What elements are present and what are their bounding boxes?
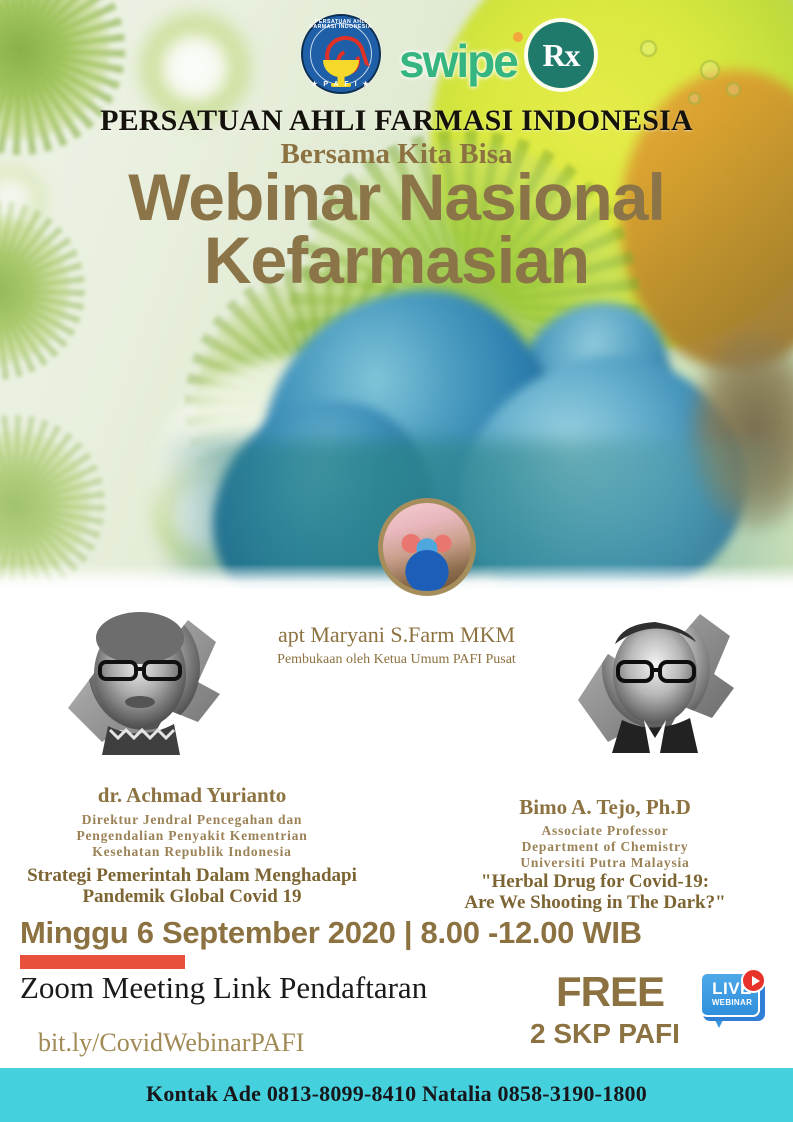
right-affiliation-line: Department of Chemistry: [425, 839, 785, 855]
left-topic-line: Pandemik Global Covid 19: [0, 887, 392, 908]
right-speaker-brush-mask: [560, 588, 750, 753]
title-line-2: Kefarmasian: [0, 229, 793, 292]
left-speaker-brush-mask: [48, 590, 238, 755]
live-webinar-badge: LIVE WEBINAR: [700, 972, 770, 1034]
left-speaker-photo: [48, 590, 238, 755]
page-title: Webinar Nasional Kefarmasian: [0, 166, 793, 291]
price-label: FREE: [556, 968, 664, 1016]
event-platform-line: Zoom Meeting Link Pendaftaran: [20, 970, 427, 1006]
contact-text: Kontak Ade 0813-8099-8410 Natalia 0858-3…: [0, 1081, 793, 1107]
right-speaker-name: Bimo A. Tejo, Ph.D: [425, 795, 785, 820]
left-speaker-affiliation: Direktur Jendral Pencegahan dan Pengenda…: [12, 812, 372, 860]
accent-bar: [20, 955, 185, 969]
logo-row: PERSATUAN AHLI FARMASI INDONESIA ★ P A F…: [0, 6, 793, 92]
left-topic-line: Strategi Pemerintah Dalam Menghadapi: [0, 866, 392, 887]
swiperx-dot-icon: [513, 32, 523, 42]
left-speaker-name: dr. Achmad Yurianto: [12, 783, 372, 808]
right-topic-line: "Herbal Drug for Covid-19:: [395, 872, 793, 893]
registration-link[interactable]: bit.ly/CovidWebinarPAFI: [38, 1028, 304, 1058]
left-affiliation-line: Kesehatan Republik Indonesia: [12, 844, 372, 860]
play-triangle-icon: [752, 976, 760, 986]
play-icon: [741, 968, 766, 993]
contact-bar: Kontak Ade 0813-8099-8410 Natalia 0858-3…: [0, 1068, 793, 1122]
left-speaker-topic: Strategi Pemerintah Dalam Menghadapi Pan…: [0, 866, 392, 908]
right-speaker-affiliation: Associate Professor Department of Chemis…: [425, 823, 785, 871]
right-speaker-photo: [560, 588, 750, 753]
organization-name: PERSATUAN AHLI FARMASI INDONESIA: [0, 104, 793, 138]
swiperx-logo: swipe Rx: [395, 20, 585, 92]
right-speaker-topic: "Herbal Drug for Covid-19: Are We Shooti…: [395, 872, 793, 914]
center-speaker-avatar: [378, 498, 476, 596]
rx-speech-bubble-icon: Rx: [528, 22, 594, 88]
right-topic-line: Are We Shooting in The Dark?": [395, 893, 793, 914]
event-datetime: Minggu 6 September 2020 | 8.00 -12.00 WI…: [20, 915, 642, 951]
left-affiliation-line: Pengendalian Penyakit Kementrian: [12, 828, 372, 844]
rx-label: Rx: [528, 22, 594, 88]
badge-webinar-label: WEBINAR: [702, 999, 762, 1007]
pafi-logo-text-bottom: ★ P A F I ★: [303, 81, 379, 88]
right-affiliation-line: Associate Professor: [425, 823, 785, 839]
right-affiliation-line: Universiti Putra Malaysia: [425, 855, 785, 871]
credits-label: 2 SKP PAFI: [530, 1018, 680, 1050]
pafi-seal-logo: PERSATUAN AHLI FARMASI INDONESIA ★ P A F…: [301, 14, 381, 94]
left-affiliation-line: Direktur Jendral Pencegahan dan: [12, 812, 372, 828]
swiperx-wordmark: swipe: [399, 34, 517, 88]
webinar-poster: PERSATUAN AHLI FARMASI INDONESIA ★ P A F…: [0, 0, 793, 1122]
pafi-logo-text-top: PERSATUAN AHLI FARMASI INDONESIA: [303, 20, 379, 30]
